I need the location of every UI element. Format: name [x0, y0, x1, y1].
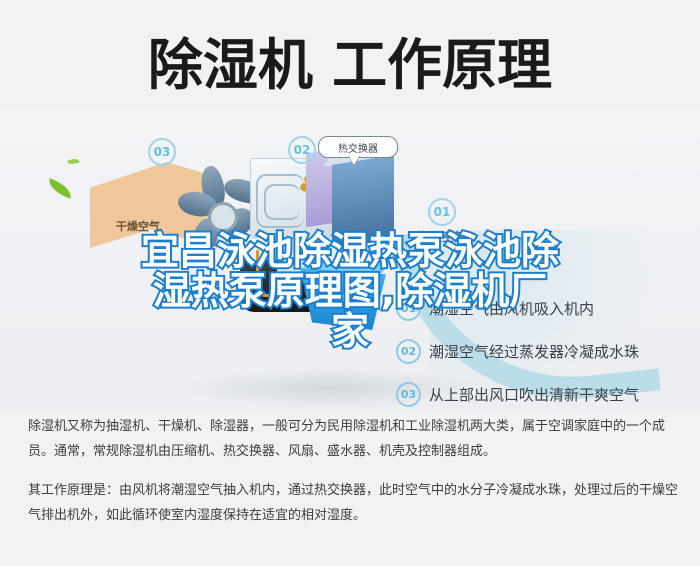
article-body: 除湿机又称为抽湿机、干燥机、除湿器，一般可分为民用除湿机和工业除湿机两大类，属于… — [28, 414, 678, 528]
legend-text-02: 潮湿空气经过蒸发器冷凝成水珠 — [429, 341, 639, 362]
legend-item-01: 01 潮湿空气由风机吸入机内 — [396, 296, 696, 321]
water-tank-label: 水箱 — [330, 292, 352, 308]
heat-exchanger-callout-text: 热交换器 — [338, 140, 378, 155]
diagram-marker-02: 02 — [288, 136, 316, 164]
diagram-marker-03: 03 — [148, 138, 176, 166]
legend-number-01: 01 — [396, 296, 421, 321]
diagram-marker-01: 01 — [428, 198, 456, 226]
drain-tube — [256, 250, 280, 297]
leaf-icon — [46, 178, 75, 198]
title-banner: 除湿机 工作原理 — [0, 26, 700, 104]
legend-item-02: 02 潮湿空气经过蒸发器冷凝成水珠 — [396, 339, 696, 364]
body-paragraph-2: 其工作原理是：由风机将潮湿空气抽入机内，通过热交换器，此时空气中的水分子冷凝成水… — [28, 478, 678, 528]
pipe-segment — [264, 184, 300, 220]
leaf-icon — [67, 156, 80, 168]
dry-air-label: 干燥空气 — [116, 218, 160, 234]
working-principle-diagram: 干燥空气 水箱 — [0, 110, 700, 410]
legend-text-01: 潮湿空气由风机吸入机内 — [429, 298, 594, 319]
page-title: 除湿机 工作原理 — [148, 35, 552, 95]
page-root: 除湿机 工作原理 干燥空气 — [0, 0, 700, 566]
humid-air-label: 潮湿空气 — [418, 228, 466, 245]
legend-number-02: 02 — [396, 339, 421, 364]
legend-list: 01 潮湿空气由风机吸入机内 02 潮湿空气经过蒸发器冷凝成水珠 03 从上部出… — [396, 296, 696, 410]
body-paragraph-1: 除湿机又称为抽湿机、干燥机、除湿器，一般可分为民用除湿机和工业除湿机两大类，属于… — [28, 414, 678, 464]
fan-hub — [208, 202, 238, 232]
legend-text-03: 从上部出风口吹出清新干爽空气 — [429, 384, 639, 405]
evaporator-block — [332, 155, 394, 249]
legend-number-03: 03 — [396, 382, 421, 407]
callout-pointer-icon — [348, 155, 360, 165]
legend-item-03: 03 从上部出风口吹出清新干爽空气 — [396, 382, 696, 407]
